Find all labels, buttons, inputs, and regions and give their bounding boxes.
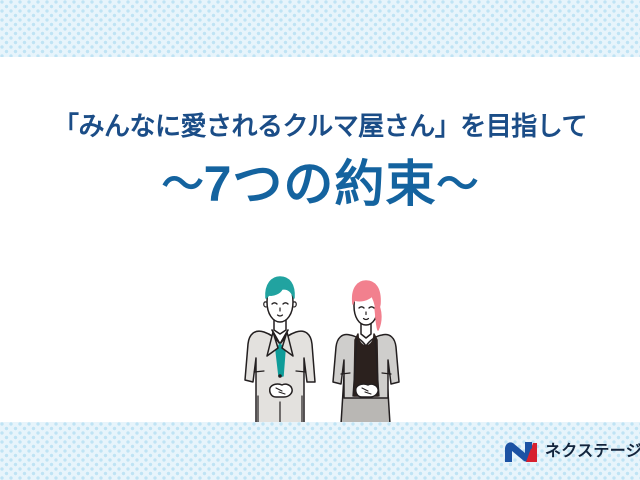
- nextage-wordmark: ネクステージ: [545, 444, 640, 460]
- main-title-text: 7つの約束: [204, 156, 437, 212]
- nextage-n-mark-icon: [504, 440, 538, 464]
- male-ear-left: [264, 302, 266, 307]
- male-jacket-button: [278, 374, 282, 378]
- headline-block: 「みんなに愛されるクルマ屋さん」を目指して 〜7つの約束〜: [0, 110, 640, 212]
- top-dot-band: [0, 0, 640, 57]
- male-ear-right: [294, 302, 296, 307]
- two-bowing-staff-illustration: [236, 272, 424, 424]
- banner-main-title: 〜7つの約束〜: [0, 157, 640, 212]
- tilde-right: 〜: [436, 160, 478, 207]
- banner-subtitle: 「みんなに愛されるクルマ屋さん」を目指して: [0, 110, 640, 143]
- tilde-left: 〜: [162, 160, 204, 207]
- promo-banner: 「みんなに愛されるクルマ屋さん」を目指して 〜7つの約束〜: [0, 0, 640, 480]
- nextage-logo[interactable]: ネクステージ: [504, 439, 640, 465]
